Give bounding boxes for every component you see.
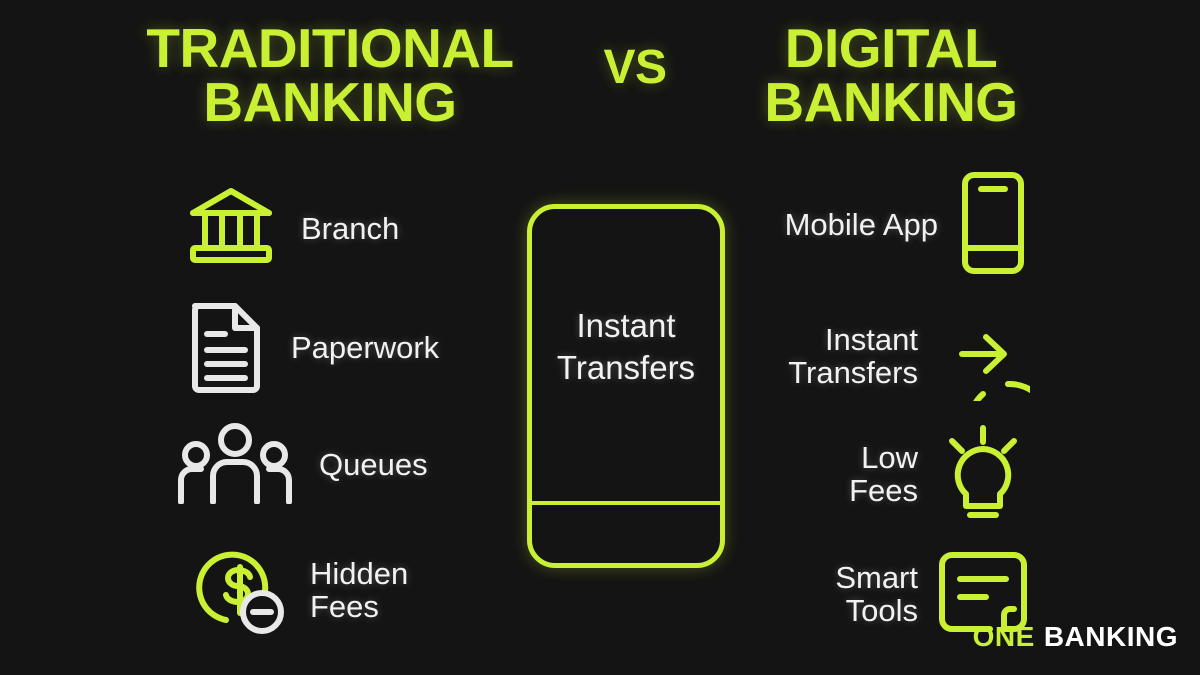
phone-screen-text: Instant Transfers [532, 305, 720, 389]
arrow-right-circle-icon [936, 307, 1030, 406]
smartphone-icon [956, 170, 1030, 281]
infographic-canvas: TRADITIONAL BANKING VS DIGITAL BANKING B… [0, 0, 1200, 675]
lightbulb-icon [936, 423, 1030, 526]
list-item-label: Smart Tools [835, 561, 918, 628]
vs-label: VS [575, 44, 695, 91]
list-item-label: Hidden Fees [310, 557, 408, 624]
phone-mockup: Instant Transfers [527, 204, 725, 568]
list-item-label: Branch [301, 212, 399, 245]
list-item-queues: Queues [175, 424, 515, 506]
list-item-low-fees: Low Fees [700, 424, 1030, 524]
list-item-hidden-fees: Hidden Fees [190, 542, 520, 638]
dollar-minus-icon [190, 540, 286, 641]
page-title-traditional: TRADITIONAL BANKING [130, 22, 530, 130]
logo-one-text: ONE [973, 621, 1035, 653]
list-item-instant-transfers: Instant Transfers [700, 306, 1030, 406]
list-item-mobile-app: Mobile App [700, 172, 1030, 278]
logo-banking-text: BANKING [1044, 621, 1178, 653]
phone-home-divider [532, 501, 720, 505]
document-icon [185, 298, 267, 399]
people-icon [175, 422, 295, 509]
list-item-paperwork: Paperwork [185, 300, 515, 396]
list-item-label: Instant Transfers [788, 323, 918, 390]
list-item-label: Mobile App [785, 208, 938, 241]
list-item-label: Paperwork [291, 331, 439, 364]
list-item-branch: Branch [185, 188, 515, 270]
list-item-label: Queues [319, 448, 428, 481]
brand-logo: ONE BANKING [973, 621, 1178, 653]
page-title-digital: DIGITAL BANKING [760, 22, 1022, 130]
list-item-label: Low Fees [849, 441, 918, 508]
bank-icon [185, 186, 277, 273]
